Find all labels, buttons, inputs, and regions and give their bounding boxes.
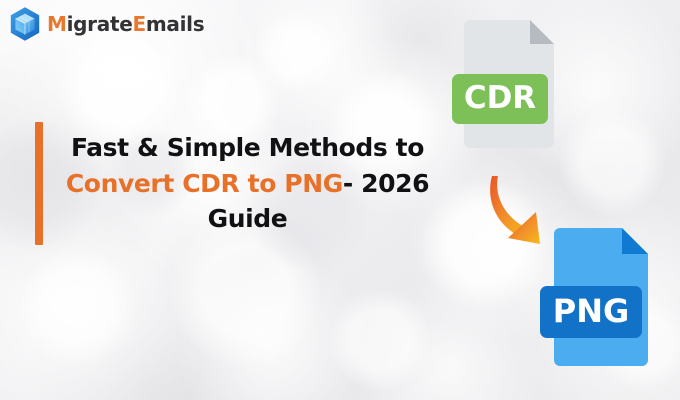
- cdr-file-icon: CDR: [452, 14, 572, 154]
- blog-banner: MigrateEmails Fast & Simple Methods to C…: [0, 0, 680, 400]
- headline-block: Fast & Simple Methods to Convert CDR to …: [35, 122, 440, 245]
- bokeh-circle: [255, 12, 335, 92]
- cdr-badge-label: CDR: [464, 80, 536, 116]
- brand-name-part-4: mails: [146, 12, 204, 36]
- headline-line-3: Guide: [55, 201, 440, 237]
- png-file-icon: PNG: [538, 222, 666, 372]
- png-badge-label: PNG: [553, 292, 630, 330]
- brand-name: MigrateEmails: [47, 14, 204, 34]
- bokeh-circle: [560, 110, 665, 215]
- brand-name-part-2: igrate: [67, 12, 133, 36]
- brand-name-part-3: E: [132, 12, 145, 36]
- headline-line-1: Fast & Simple Methods to: [55, 130, 440, 166]
- accent-bar: [35, 122, 43, 245]
- cube-box-icon: [8, 6, 42, 42]
- brand-logo[interactable]: MigrateEmails: [8, 6, 204, 42]
- page-title: Fast & Simple Methods to Convert CDR to …: [43, 122, 440, 245]
- cdr-fold-shape: [530, 20, 554, 44]
- headline-year: - 2026: [343, 169, 429, 198]
- headline-highlight: Convert CDR to PNG: [66, 169, 343, 198]
- png-fold-shape: [622, 228, 648, 254]
- headline-line-2: Convert CDR to PNG- 2026: [55, 166, 440, 202]
- bokeh-circle: [330, 290, 430, 390]
- bokeh-circle: [20, 250, 135, 365]
- brand-name-part-1: M: [47, 12, 67, 36]
